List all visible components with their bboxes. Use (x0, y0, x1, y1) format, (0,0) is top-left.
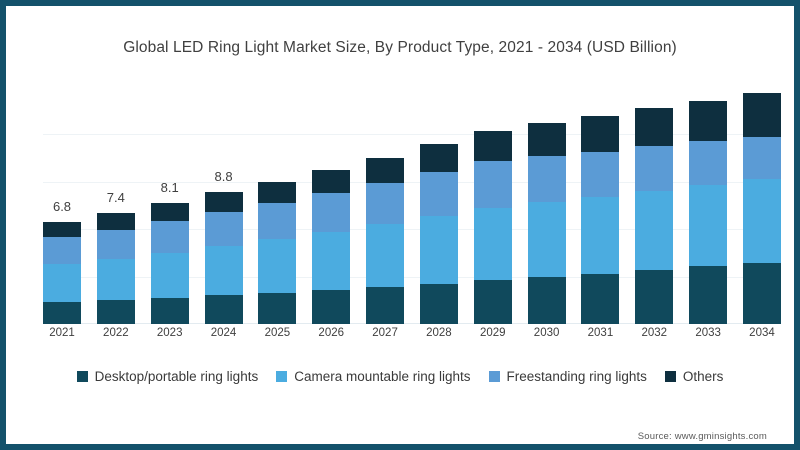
bar-segment (635, 270, 673, 324)
bar-group-2028[interactable] (420, 87, 458, 324)
x-tick-2027: 2027 (366, 327, 404, 339)
bar-segment (258, 203, 296, 239)
bar-group-2031[interactable] (581, 87, 619, 324)
bar-segment (258, 293, 296, 325)
bar-segment (312, 232, 350, 290)
bar-stack[interactable] (689, 101, 727, 325)
bar-stack[interactable] (581, 116, 619, 325)
bar-segment (312, 290, 350, 325)
bar-segment (43, 302, 81, 324)
x-tick-2032: 2032 (635, 327, 673, 339)
bar-segment (97, 300, 135, 324)
legend-item[interactable]: Desktop/portable ring lights (77, 369, 259, 384)
bar-segment (581, 152, 619, 197)
bar-stack[interactable] (205, 192, 243, 324)
x-tick-2030: 2030 (528, 327, 566, 339)
legend-label: Others (683, 369, 724, 384)
bar-segment (97, 230, 135, 259)
bar-segment (151, 253, 189, 298)
legend-item[interactable]: Camera mountable ring lights (276, 369, 470, 384)
bar-segment (151, 298, 189, 324)
bar-segment (743, 179, 781, 263)
bar-stack[interactable] (474, 131, 512, 325)
bar-segment (151, 221, 189, 253)
x-tick-2025: 2025 (258, 327, 296, 339)
bar-group-2029[interactable] (474, 87, 512, 324)
bar-segment (43, 222, 81, 237)
bar-stack[interactable] (366, 158, 404, 325)
bar-segment (689, 101, 727, 142)
bar-segment (420, 172, 458, 216)
chart-legend: Desktop/portable ring lightsCamera mount… (9, 369, 791, 384)
bar-segment (528, 277, 566, 324)
bar-segment (689, 141, 727, 185)
bar-segment (366, 158, 404, 184)
x-tick-2021: 2021 (43, 327, 81, 339)
bar-segment (528, 156, 566, 202)
bar-group-2021[interactable]: 6.8 (43, 87, 81, 324)
bar-segment (420, 216, 458, 284)
x-tick-2028: 2028 (420, 327, 458, 339)
bar-segment (258, 239, 296, 292)
bar-group-2024[interactable]: 8.8 (205, 87, 243, 324)
bar-segment (205, 192, 243, 212)
bar-group-2034[interactable] (743, 87, 781, 324)
bar-group-2032[interactable] (635, 87, 673, 324)
legend-swatch-icon (276, 371, 287, 382)
bar-segment (366, 287, 404, 325)
bar-segment (635, 191, 673, 271)
bar-segment (258, 182, 296, 204)
bar-segment (528, 202, 566, 277)
bar-group-2033[interactable] (689, 87, 727, 324)
bar-segment (581, 116, 619, 152)
x-axis-tick-labels: 2021202220232024202520262027202820292030… (43, 327, 781, 339)
bar-segment (151, 203, 189, 222)
bar-segment (366, 183, 404, 224)
chart-canvas: Global LED Ring Light Market Size, By Pr… (6, 6, 794, 444)
bar-segment (528, 123, 566, 156)
legend-swatch-icon (77, 371, 88, 382)
bar-segment (581, 197, 619, 274)
bar-segment (474, 280, 512, 324)
bar-segment (743, 263, 781, 324)
legend-item[interactable]: Freestanding ring lights (489, 369, 647, 384)
bar-segment (205, 246, 243, 295)
bar-stack[interactable] (528, 123, 566, 324)
x-tick-2034: 2034 (743, 327, 781, 339)
bar-segment (97, 213, 135, 230)
bar-group-2025[interactable] (258, 87, 296, 324)
bar-series-container: 6.87.48.18.8 (43, 87, 781, 324)
x-tick-2026: 2026 (312, 327, 350, 339)
bar-segment (312, 193, 350, 232)
bar-group-2027[interactable] (366, 87, 404, 324)
legend-swatch-icon (665, 371, 676, 382)
x-tick-2024: 2024 (205, 327, 243, 339)
bar-stack[interactable] (312, 170, 350, 325)
legend-swatch-icon (489, 371, 500, 382)
bar-stack[interactable] (151, 203, 189, 325)
bar-group-2023[interactable]: 8.1 (151, 87, 189, 324)
bar-segment (43, 237, 81, 264)
bar-segment (743, 93, 781, 137)
x-tick-2022: 2022 (97, 327, 135, 339)
bar-group-2026[interactable] (312, 87, 350, 324)
x-tick-2029: 2029 (474, 327, 512, 339)
legend-label: Camera mountable ring lights (294, 369, 470, 384)
bar-segment (635, 108, 673, 146)
bar-segment (205, 295, 243, 324)
chart-title: Global LED Ring Light Market Size, By Pr… (9, 39, 791, 57)
bar-value-label: 8.8 (214, 169, 232, 184)
bar-segment (420, 144, 458, 172)
bar-segment (474, 161, 512, 208)
bar-segment (205, 212, 243, 246)
bar-stack[interactable] (258, 182, 296, 325)
legend-item[interactable]: Others (665, 369, 724, 384)
bar-segment (474, 208, 512, 280)
plot-area: 6.87.48.18.8 (43, 87, 781, 324)
bar-stack[interactable] (635, 108, 673, 324)
bar-group-2030[interactable] (528, 87, 566, 324)
bar-segment (635, 146, 673, 190)
legend-label: Freestanding ring lights (507, 369, 647, 384)
x-tick-2023: 2023 (151, 327, 189, 339)
bar-segment (97, 259, 135, 300)
bar-segment (312, 170, 350, 193)
bar-group-2022[interactable]: 7.4 (97, 87, 135, 324)
bar-segment (581, 274, 619, 324)
bar-segment (689, 185, 727, 267)
bar-segment (689, 266, 727, 324)
x-tick-2031: 2031 (581, 327, 619, 339)
chart-frame: Global LED Ring Light Market Size, By Pr… (0, 0, 800, 450)
bar-segment (743, 137, 781, 180)
bar-segment (366, 224, 404, 286)
bar-stack[interactable] (743, 93, 781, 324)
x-tick-2033: 2033 (689, 327, 727, 339)
bar-segment (43, 264, 81, 302)
bar-value-label: 6.8 (53, 199, 71, 214)
legend-label: Desktop/portable ring lights (95, 369, 259, 384)
bar-segment (420, 284, 458, 325)
bar-segment (474, 131, 512, 162)
bar-value-label: 8.1 (161, 180, 179, 195)
bar-stack[interactable] (97, 213, 135, 324)
source-attribution: Source: www.gminsights.com (638, 431, 767, 442)
bar-stack[interactable] (420, 144, 458, 324)
bar-stack[interactable] (43, 222, 81, 324)
bar-value-label: 7.4 (107, 190, 125, 205)
